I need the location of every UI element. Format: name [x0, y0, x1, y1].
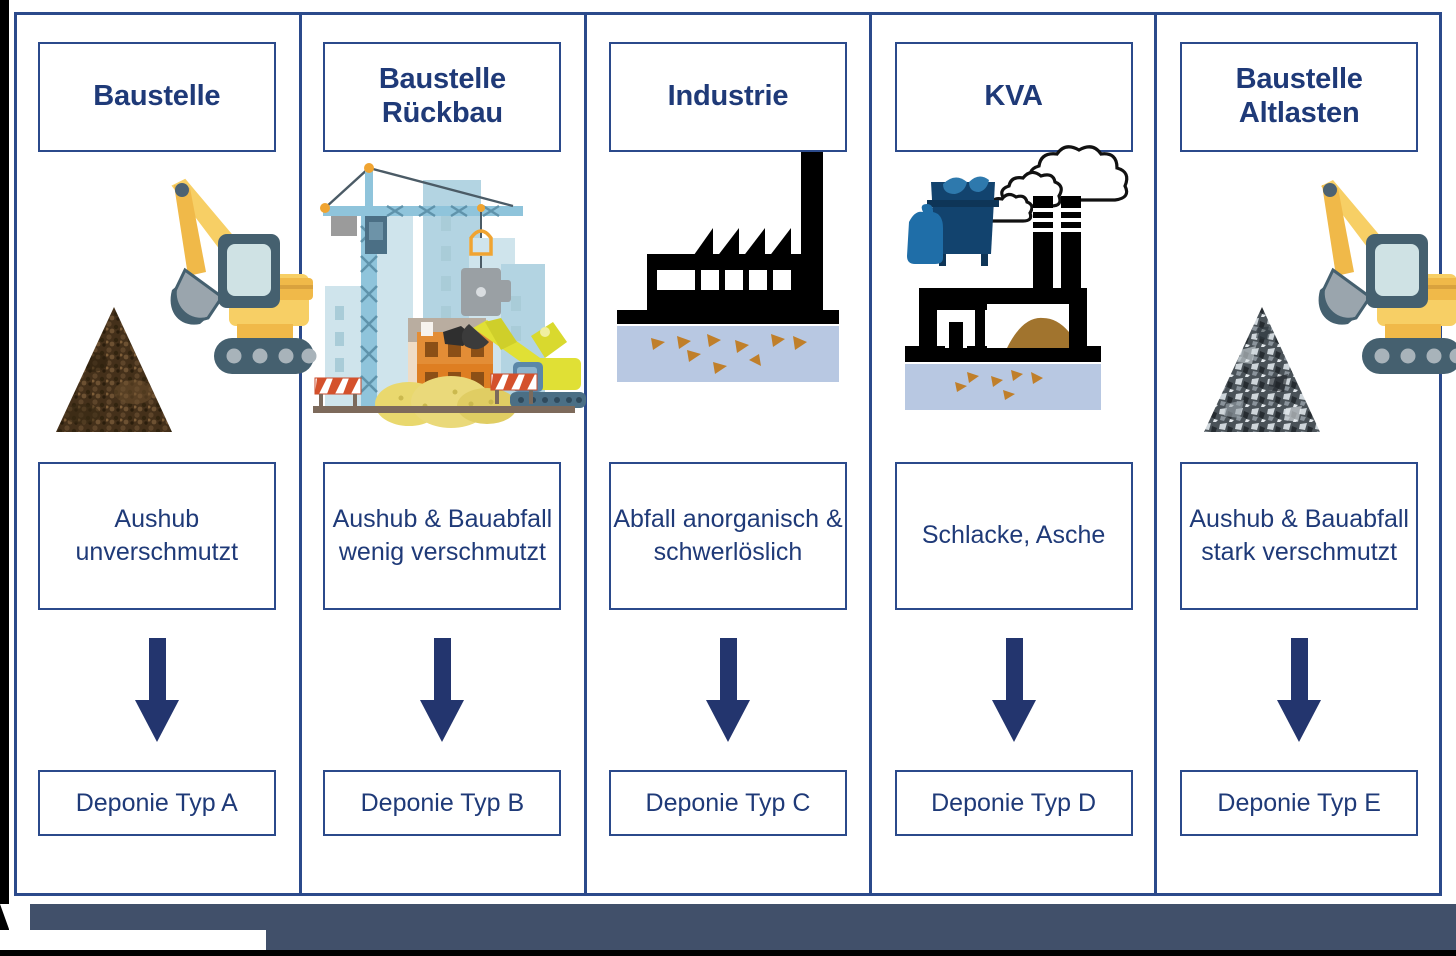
- material-box-c[interactable]: Abfall anorganisch & schwerlöslich: [609, 462, 847, 610]
- illustration-b: [300, 152, 586, 444]
- material-box-d[interactable]: Schlacke, Asche: [895, 462, 1133, 610]
- column-e: Baustelle Altlasten: [1156, 12, 1442, 896]
- source-box-a[interactable]: Baustelle: [38, 42, 276, 152]
- columns-container: Baustelle: [14, 12, 1442, 896]
- excavator-icon: [171, 180, 317, 374]
- landfill-label-e: Deponie Typ E: [1217, 789, 1381, 818]
- illustration-c: [585, 152, 871, 444]
- column-a: Baustelle: [14, 12, 300, 896]
- landfill-label-c: Deponie Typ C: [646, 789, 811, 818]
- arrow-zone-e: [1277, 610, 1321, 770]
- down-arrow-icon-c: [706, 638, 750, 742]
- source-box-c[interactable]: Industrie: [609, 42, 847, 152]
- arrow-zone-d: [992, 610, 1036, 770]
- smoke-icon: [985, 147, 1127, 221]
- factory-icon: [617, 152, 839, 382]
- diagram-canvas: Baustelle: [0, 0, 1456, 956]
- material-label-a: Aushub unverschmutzt: [40, 503, 274, 570]
- slide-edge-bottom: [0, 950, 1456, 956]
- illustration-d: [871, 152, 1157, 444]
- landfill-label-d: Deponie Typ D: [931, 789, 1096, 818]
- material-box-b[interactable]: Aushub & Bauabfall wenig verschmutzt: [323, 462, 561, 610]
- source-box-e[interactable]: Baustelle Altlasten: [1180, 42, 1418, 152]
- soil-pile-icon: [56, 307, 172, 432]
- material-box-e[interactable]: Aushub & Bauabfall stark verschmutzt: [1180, 462, 1418, 610]
- landfill-box-d[interactable]: Deponie Typ D: [895, 770, 1133, 836]
- landfill-box-b[interactable]: Deponie Typ B: [323, 770, 561, 836]
- incinerator-icon: [905, 147, 1127, 410]
- source-label-a: Baustelle: [93, 80, 220, 114]
- down-arrow-icon-a: [135, 638, 179, 742]
- source-box-b[interactable]: Baustelle Rückbau: [323, 42, 561, 152]
- column-c: Industrie: [585, 12, 871, 896]
- excavator-icon: [1319, 180, 1456, 374]
- material-label-d: Schlacke, Asche: [922, 519, 1105, 552]
- landfill-box-a[interactable]: Deponie Typ A: [38, 770, 276, 836]
- material-label-c: Abfall anorganisch & schwerlöslich: [611, 503, 845, 570]
- material-label-e: Aushub & Bauabfall stark verschmutzt: [1182, 503, 1416, 570]
- dumpster-icon: [907, 176, 999, 266]
- slide-edge-left: [0, 0, 9, 930]
- footer-notch-bottom: [24, 930, 266, 950]
- down-arrow-icon-d: [992, 638, 1036, 742]
- demolition-site-icon: [313, 163, 586, 428]
- column-d: KVA: [871, 12, 1157, 896]
- source-label-d: KVA: [984, 80, 1042, 114]
- landfill-box-c[interactable]: Deponie Typ C: [609, 770, 847, 836]
- down-arrow-icon-e: [1277, 638, 1321, 742]
- source-label-b: Baustelle Rückbau: [325, 63, 559, 130]
- down-arrow-icon-b: [420, 638, 464, 742]
- source-label-e: Baustelle Altlasten: [1182, 63, 1416, 130]
- material-label-b: Aushub & Bauabfall wenig verschmutzt: [325, 503, 559, 570]
- source-label-c: Industrie: [668, 80, 789, 114]
- arrow-zone-c: [706, 610, 750, 770]
- landfill-label-a: Deponie Typ A: [76, 789, 238, 818]
- column-b: Baustelle Rückbau: [300, 12, 586, 896]
- illustration-e: [1156, 152, 1442, 444]
- landfill-box-e[interactable]: Deponie Typ E: [1180, 770, 1418, 836]
- arrow-zone-a: [135, 610, 179, 770]
- rubble-pile-icon: [1204, 307, 1320, 432]
- source-box-d[interactable]: KVA: [895, 42, 1133, 152]
- arrow-zone-b: [420, 610, 464, 770]
- illustration-a: [14, 152, 300, 444]
- landfill-label-b: Deponie Typ B: [361, 789, 525, 818]
- material-box-a[interactable]: Aushub unverschmutzt: [38, 462, 276, 610]
